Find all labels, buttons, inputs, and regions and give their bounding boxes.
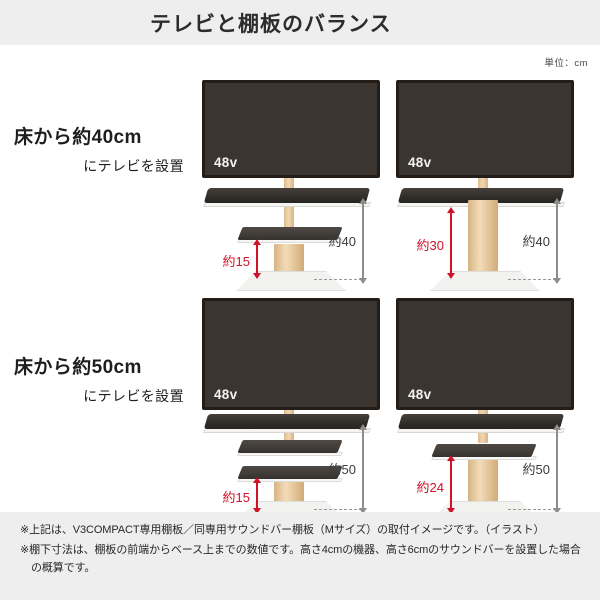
arrow-up-icon [359,424,367,430]
arrow-down-icon [447,273,455,279]
footnote-2: ※棚下寸法は、棚板の前端からベース上までの数値です。高さ4cmの機器、高さ6cm… [20,542,600,578]
arrow-up-icon [553,198,561,204]
row-label-50cm: 床から約50cm にテレビを設置 [0,352,196,406]
soundbar-icon [204,188,370,203]
arrow-up-icon [553,424,561,430]
row-label-40cm-secondary: にテレビを設置 [0,156,196,176]
stand-pole-block-icon [468,460,498,502]
unit-note: 単位：cm [544,55,588,69]
dimension-under-shelf-label: 約24 [417,477,444,496]
tv-illustration: 48v [202,298,380,410]
arrow-up-icon [447,455,455,461]
tv-illustration: 48v [396,298,574,410]
arrow-down-icon [359,278,367,284]
row-label-50cm-secondary: にテレビを設置 [0,386,196,406]
arrow-up-icon [253,239,261,245]
dimension-leader-line [314,509,362,510]
row-label-40cm-primary: 床から約40cm [0,122,196,149]
dimension-under-shelf-label: 約15 [223,487,250,506]
dimension-under-shelf-label: 約15 [223,251,250,270]
dimension-leader-line [508,279,556,280]
diagram-40cm-no-shelf: 48v 約30 約40 [390,72,580,292]
dimension-total-height-label: 約40 [329,231,356,250]
arrow-up-icon [253,477,261,483]
arrow-down-icon [253,273,261,279]
dimension-total-height-label: 約40 [523,231,550,250]
dimension-total-height-label: 約50 [329,459,356,478]
page-title: テレビと棚板のバランス [150,8,392,38]
equipment-device-icon-upper [237,440,342,453]
dimension-under-shelf-label: 約30 [417,235,444,254]
row-label-40cm: 床から約40cm にテレビを設置 [0,122,196,176]
soundbar-icon [204,414,370,429]
page-footer: ※上記は、V3COMPACT専用棚板／同専用サウンドバー棚板（Mサイズ）の取付イ… [0,512,600,600]
tv-size-label: 48v [214,155,237,170]
stand-pole-block-icon [274,244,304,272]
stand-pole-block-icon [468,200,498,272]
diagram-50cm-two-shelves: 48v 約15 約50 [196,300,386,520]
tv-size-label: 48v [214,387,237,402]
tv-size-label: 48v [408,155,431,170]
footnote-1: ※上記は、V3COMPACT専用棚板／同専用サウンドバー棚板（Mサイズ）の取付イ… [20,522,600,540]
stand-pole-block-icon [274,482,304,502]
arrow-down-icon [553,278,561,284]
diagram-40cm-with-shelf: 48v 約15 約40 [196,72,386,292]
tv-size-label: 48v [408,387,431,402]
page-header: テレビと棚板のバランス [0,0,600,45]
dimension-leader-line [508,509,556,510]
dimension-total-height-label: 約50 [523,459,550,478]
row-label-50cm-primary: 床から約50cm [0,352,196,379]
dimension-leader-line [314,279,362,280]
diagram-50cm-one-shelf: 48v 約24 約50 [390,300,580,520]
arrow-up-icon [359,198,367,204]
soundbar-icon [398,414,564,429]
arrow-up-icon [447,207,455,213]
tv-illustration: 48v [202,80,380,178]
tv-illustration: 48v [396,80,574,178]
